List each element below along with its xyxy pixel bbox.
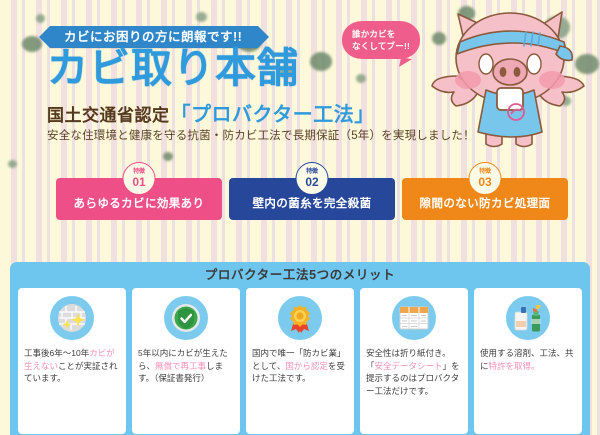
merit-text: 安全性は折り紙付き。「安全データシート」を提示するのはプロバクター工法だけです。 [366,347,462,397]
mold-spot-icon [356,74,366,83]
merit-text-highlight: 特許を取得。 [489,361,540,371]
merit-icon-circle [50,296,94,340]
merit-card-list: 工事後6年〜10年カビが生えないことが実証されています。 5年以内にカビが生えた… [18,288,582,434]
feature-badge-number: 01 [132,176,145,188]
feature-box-03[interactable]: 特徴 03 隙間のない防カビ処理面 [402,178,568,220]
feature-badge-02: 特徴 02 [296,162,329,195]
spreadsheet-document-icon [398,304,430,332]
merit-icon-circle [278,296,322,340]
mold-spot-icon [310,52,332,71]
page-title: カビ取り本舗 [47,48,299,89]
feature-box-02[interactable]: 特徴 02 壁内の菌糸を完全殺菌 [229,178,395,220]
certification-line: 国土交通省認定 「プロバクター工法」 [47,98,375,127]
feature-label: 隙間のない防カビ処理面 [420,195,551,211]
merit-text-highlight: 無償で再工事 [155,361,206,371]
merit-icon-circle [164,296,208,340]
feature-badge-number: 02 [305,176,318,188]
feature-label: あらゆるカビに効果あり [74,195,205,211]
merit-text-highlight: 国から認定 [285,361,328,371]
merit-text-part: 工事後6年〜10年 [24,348,89,358]
merit-icon-circle [506,296,550,340]
lead-description: 安全な住環境と健康を守る抗菌・防カビ工法で長期保証（5年）を実現しました！ [47,127,475,143]
mold-spot-icon [163,152,173,161]
merits-heading: プロバクター工法5つのメリット [18,262,582,288]
merit-card[interactable]: 工事後6年〜10年カビが生えないことが実証されています。 [18,288,126,434]
mascot-speech-bubble: 誰かカビを なくしてブー!! [342,21,420,59]
page-root: カビにお困りの方に朗報です!! カビ取り本舗 国土交通省認定 「プロバクター工法… [0,0,600,435]
merit-text-highlight: 安全データシート [375,361,443,371]
feature-badge-number: 03 [478,176,491,188]
speech-line-2: なくしてブー!! [352,40,420,52]
merit-card[interactable]: 5年以内にカビが生えたら、無償で再工事します。（保証書発行） [132,288,240,434]
merit-text: 工事後6年〜10年カビが生えないことが実証されています。 [24,347,120,385]
feature-badge-01: 特徴 01 [123,162,156,195]
feature-badge-03: 特徴 03 [469,162,502,195]
method-name: 「プロバクター工法」 [171,98,375,127]
merit-card[interactable]: 国内で唯一「防カビ業」として、国から認定を受けた工法です。 [246,288,354,434]
feature-box-list: 特徴 01 あらゆるカビに効果あり 特徴 02 壁内の菌糸を完全殺菌 特徴 03… [56,178,568,220]
speech-line-1: 誰かカビを [352,28,420,40]
green-shield-check-icon [171,303,201,333]
merit-icon-circle [392,296,436,340]
merit-card[interactable]: 使用する溶剤、工法、共に特許を取得。 [474,288,582,434]
gold-award-ribbon-icon [285,303,315,333]
mold-spot-icon [8,160,17,168]
feature-label: 壁内の菌糸を完全殺菌 [253,195,372,211]
cleaning-bottles-icon [512,303,544,333]
certification-prefix: 国土交通省認定 [47,101,170,126]
mold-spot-icon [196,12,207,22]
merit-text: 5年以内にカビが生えたら、無償で再工事します。（保証書発行） [138,347,234,385]
merit-text: 使用する溶剤、工法、共に特許を取得。 [480,347,576,372]
merit-text: 国内で唯一「防カビ業」として、国から認定を受けた工法です。 [252,347,348,385]
merits-panel: プロバクター工法5つのメリット [10,262,590,435]
mold-spot-icon [36,14,45,23]
feature-box-01[interactable]: 特徴 01 あらゆるカビに効果あり [56,178,222,220]
merit-card[interactable]: 安全性は折り紙付き。「安全データシート」を提示するのはプロバクター工法だけです。 [360,288,468,434]
brick-wall-sparkle-icon [57,303,87,333]
